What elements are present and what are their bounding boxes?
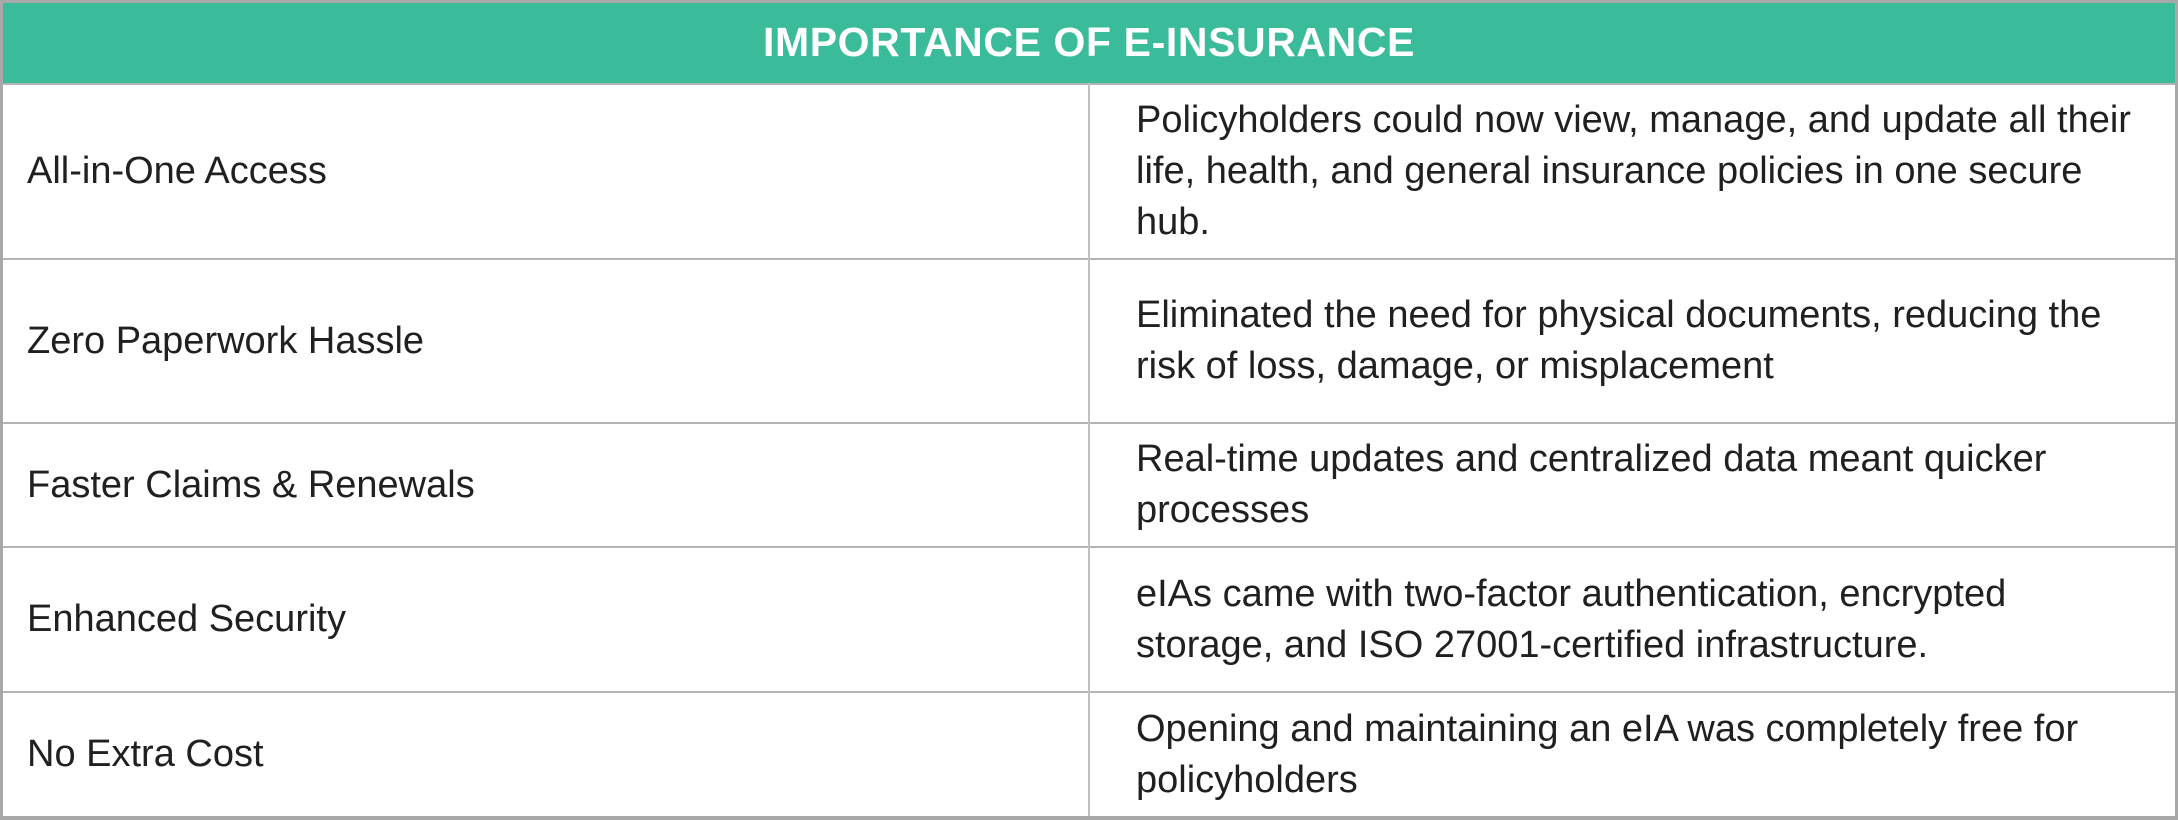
term-cell: Faster Claims & Renewals [3, 423, 1089, 548]
term-label: Faster Claims & Renewals [27, 461, 1068, 510]
table-title: IMPORTANCE OF E-INSURANCE [3, 20, 2175, 65]
description-cell: Policyholders could now view, manage, an… [1089, 84, 2175, 260]
table-row: No Extra Cost Opening and maintaining an… [3, 692, 2175, 816]
page-root: IMPORTANCE OF E-INSURANCE All-in-One Acc… [0, 0, 2178, 820]
term-cell: All-in-One Access [3, 84, 1089, 260]
table-header-row: IMPORTANCE OF E-INSURANCE [3, 3, 2175, 84]
term-label: Zero Paperwork Hassle [27, 317, 1068, 366]
table-header-cell: IMPORTANCE OF E-INSURANCE [3, 3, 2175, 84]
description-text: Opening and maintaining an eIA was compl… [1136, 704, 2135, 806]
term-label: All-in-One Access [27, 147, 1068, 196]
table-row: Faster Claims & Renewals Real-time updat… [3, 423, 2175, 548]
description-cell: Eliminated the need for physical documen… [1089, 259, 2175, 422]
description-cell: Real-time updates and centralized data m… [1089, 423, 2175, 548]
table-row: Zero Paperwork Hassle Eliminated the nee… [3, 259, 2175, 422]
term-label: No Extra Cost [27, 730, 1068, 779]
table-row: Enhanced Security eIAs came with two-fac… [3, 547, 2175, 692]
description-text: Eliminated the need for physical documen… [1136, 290, 2135, 392]
description-text: Real-time updates and centralized data m… [1136, 434, 2135, 536]
term-label: Enhanced Security [27, 595, 1068, 644]
info-table-container: IMPORTANCE OF E-INSURANCE All-in-One Acc… [0, 0, 2178, 820]
description-text: eIAs came with two-factor authentication… [1136, 569, 2135, 671]
description-cell: eIAs came with two-factor authentication… [1089, 547, 2175, 692]
term-cell: No Extra Cost [3, 692, 1089, 816]
term-cell: Enhanced Security [3, 547, 1089, 692]
description-cell: Opening and maintaining an eIA was compl… [1089, 692, 2175, 816]
term-cell: Zero Paperwork Hassle [3, 259, 1089, 422]
description-text: Policyholders could now view, manage, an… [1136, 95, 2135, 248]
importance-of-e-insurance-table: IMPORTANCE OF E-INSURANCE All-in-One Acc… [3, 3, 2175, 816]
table-row: All-in-One Access Policyholders could no… [3, 84, 2175, 260]
